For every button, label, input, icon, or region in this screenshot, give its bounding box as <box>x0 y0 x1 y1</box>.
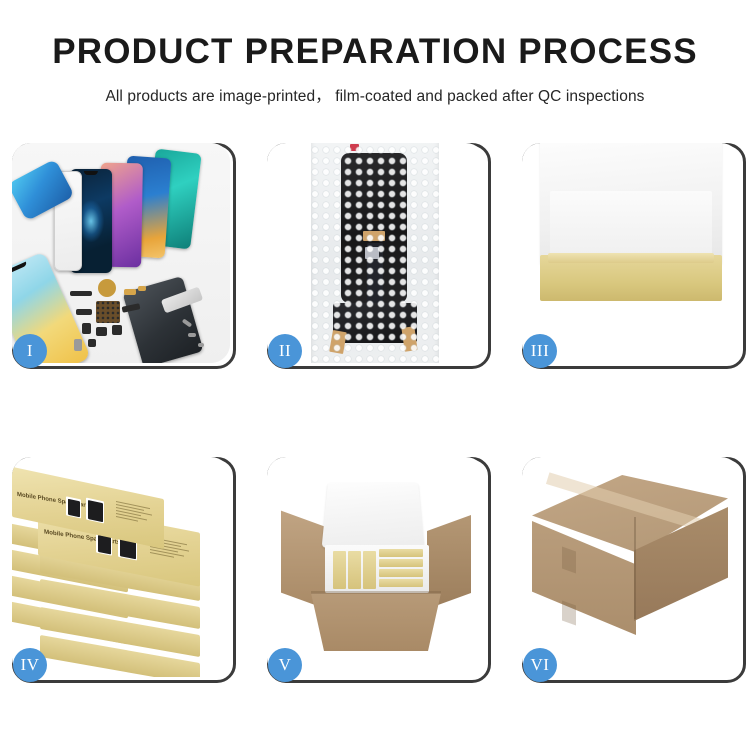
step-badge-6: VI <box>523 648 557 682</box>
step-3-image <box>522 143 740 363</box>
process-step-5: V <box>267 457 491 683</box>
page-subtitle: All products are image-printed， film-coa… <box>0 84 750 106</box>
header: PRODUCT PREPARATION PROCESS All products… <box>0 0 750 106</box>
step-2-image <box>267 143 485 363</box>
step-badge-3: III <box>523 334 557 368</box>
step-badge-1: I <box>13 334 47 368</box>
process-step-1: I <box>12 143 236 369</box>
foam-sheet <box>550 191 712 261</box>
page-title: PRODUCT PREPARATION PROCESS <box>0 34 750 69</box>
step-6-image <box>522 457 740 677</box>
step-1-image <box>12 143 230 363</box>
process-step-2: II <box>267 143 491 369</box>
inner-box-rim <box>548 253 714 263</box>
step-badge-4: IV <box>13 648 47 682</box>
bubble-wrap-bag <box>311 143 439 363</box>
step-4-image: Mobile Phone Spare Parts Mobile Phone Sp… <box>12 457 230 677</box>
step-badge-2: II <box>268 334 302 368</box>
foam-cooler-lid <box>322 483 425 548</box>
process-step-4: Mobile Phone Spare Parts Mobile Phone Sp… <box>12 457 236 683</box>
step-badge-5: V <box>268 648 302 682</box>
process-step-6: VI <box>522 457 746 683</box>
process-step-3: III <box>522 143 746 369</box>
shipping-carton-open <box>311 593 441 651</box>
product-preparation-infographic: PRODUCT PREPARATION PROCESS All products… <box>0 0 750 750</box>
step-5-image <box>267 457 485 677</box>
process-steps-grid: I II <box>12 143 738 677</box>
